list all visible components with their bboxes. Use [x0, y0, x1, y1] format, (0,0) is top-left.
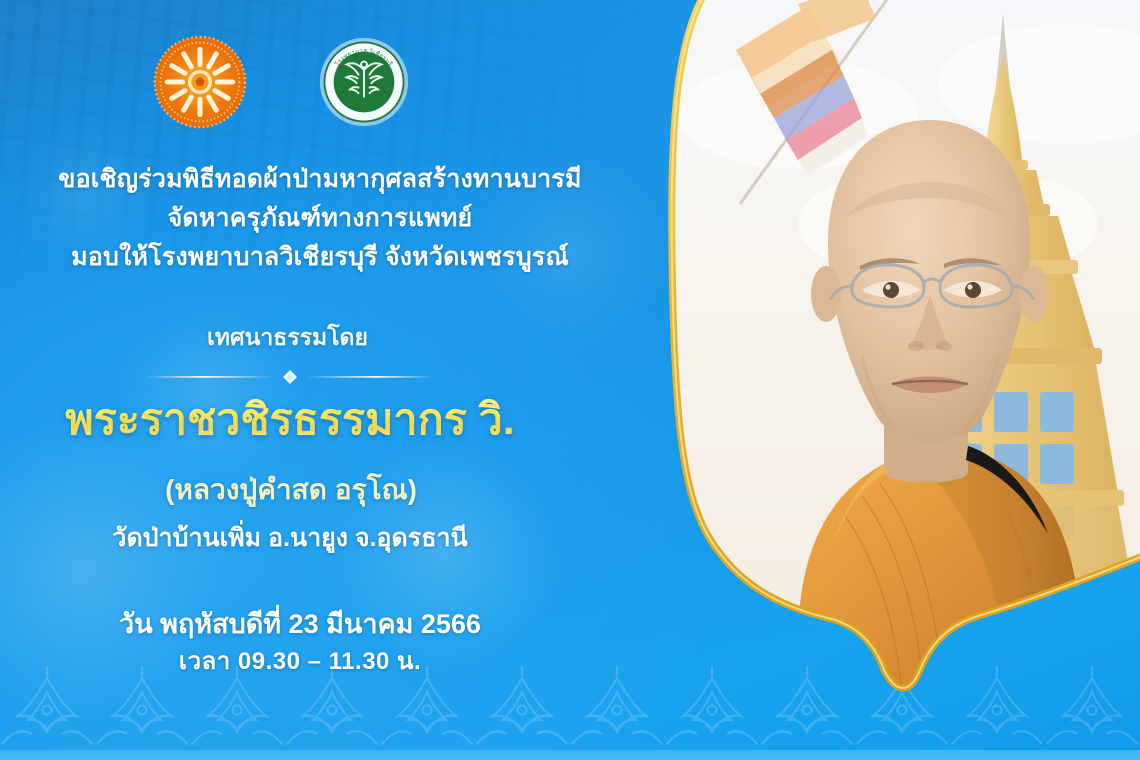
monk-photo-panel — [648, 0, 1140, 694]
speaker-name: พระราชวชิรธรรมากร วิ. — [0, 392, 580, 448]
poster-canvas: โรงพยาบาล วิเชียรบุรี WICHIANBURI HOSPIT… — [0, 0, 1140, 760]
speaker-alias: (หลวงปู่คำสด อรุโณ) — [0, 468, 582, 512]
bottom-accent-strip — [0, 750, 1140, 760]
headline-line-3: มอบให้โรงพยาบาลวิเชียรบุรี จังหวัดเพชรบู… — [0, 238, 640, 277]
preach-by-label: เทศนาธรรมโดย — [0, 320, 575, 356]
divider-ornament — [140, 368, 440, 386]
monk-portrait-image — [648, 0, 1140, 694]
event-time: เวลา 09.30 – 11.30 น. — [0, 641, 600, 680]
dharma-wheel-icon — [152, 34, 248, 130]
headline-block: ขอเชิญร่วมพิธีทอดผ้าป่ามหากุศลสร้างทานบา… — [0, 160, 640, 277]
speaker-temple: วัดป่าบ้านเพิ่ม อ.นายูง จ.อุดรธานี — [0, 518, 580, 558]
headline-line-2: จัดหาครุภัณฑ์ทางการแพทย์ — [0, 199, 640, 238]
headline-line-1: ขอเชิญร่วมพิธีทอดผ้าป่ามหากุศลสร้างทานบา… — [0, 160, 640, 199]
hospital-emblem-icon: โรงพยาบาล วิเชียรบุรี WICHIANBURI HOSPIT… — [318, 36, 410, 128]
logo-row: โรงพยาบาล วิเชียรบุรี WICHIANBURI HOSPIT… — [152, 34, 410, 130]
event-date: วัน พฤหัสบดีที่ 23 มีนาคม 2566 — [0, 602, 600, 645]
